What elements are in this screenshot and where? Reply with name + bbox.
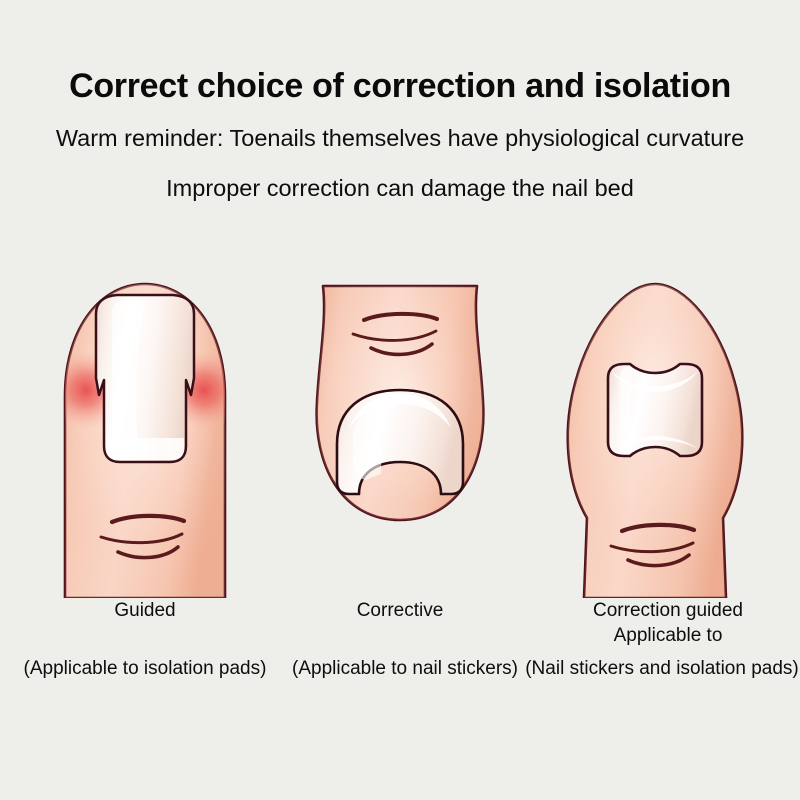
toe-body-group <box>568 284 742 598</box>
caption-secondary-nail-stickers: (Applicable to nail stickers) <box>275 656 535 682</box>
toe-corrective-illustration <box>275 268 525 598</box>
illustration-row <box>0 268 800 598</box>
caption-primary-corrective: Corrective <box>275 598 525 623</box>
reminder-line-1: Warm reminder: Toenails themselves have … <box>0 124 800 152</box>
caption-secondary-both: (Nail stickers and isolation pads) <box>517 656 800 682</box>
reminder-line-2: Improper correction can damage the nail … <box>0 174 800 202</box>
secondary-caption-row: (Applicable to isolation pads) (Applicab… <box>0 656 800 690</box>
caption-secondary-isolation-pads: (Applicable to isolation pads) <box>5 656 285 682</box>
toe-body-group <box>46 284 244 598</box>
toe-body-group <box>317 286 484 520</box>
figure-toe-correction-guided <box>530 268 780 598</box>
nail-free-edge <box>106 438 184 460</box>
caption-primary-correction-guided-line2: Applicable to <box>528 623 800 648</box>
toe-corrected-illustration <box>530 268 780 598</box>
caption-primary-correction-guided: Correction guided Applicable to <box>528 598 800 648</box>
figure-toe-corrective <box>275 268 525 598</box>
caption-primary-guided: Guided <box>20 598 270 623</box>
toe-inflamed-illustration <box>20 268 270 598</box>
toenail-plate <box>96 295 194 462</box>
poster-canvas: Correct choice of correction and isolati… <box>0 0 800 800</box>
header-text-block: Correct choice of correction and isolati… <box>0 66 800 202</box>
caption-primary-correction-guided-line1: Correction guided <box>528 598 800 623</box>
figure-toe-guided <box>20 268 270 598</box>
primary-caption-row: Guided Corrective Correction guided Appl… <box>0 598 800 654</box>
page-title: Correct choice of correction and isolati… <box>0 66 800 106</box>
